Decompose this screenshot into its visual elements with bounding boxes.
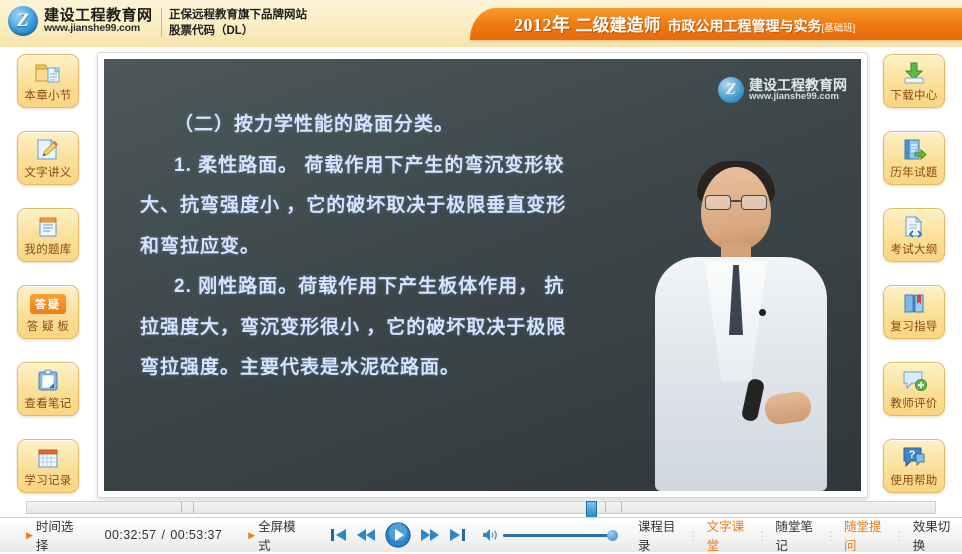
sidebar-item-help[interactable]: ? 使用帮助	[883, 439, 945, 493]
link-effect-switch[interactable]: 效果切换	[906, 516, 962, 554]
prev-track-icon[interactable]	[330, 527, 347, 543]
watermark-site-name: 建设工程教育网	[749, 78, 847, 93]
outline-doc-icon	[900, 213, 928, 240]
sidebar-label: 复习指导	[890, 318, 937, 334]
sidebar-label: 教师评价	[890, 395, 937, 411]
sidebar-label: 我的题库	[24, 241, 71, 257]
triangle-right-icon: ▶	[26, 530, 33, 541]
video-stage: Z 建设工程教育网 www.jianshe99.com	[97, 52, 868, 498]
banner-exam: 二级建造师	[576, 16, 661, 35]
lecture-slide: （二）按力学性能的路面分类。 1. 柔性路面。 荷载作用下产生的弯沉变形较 大、…	[140, 111, 760, 395]
slide-line: 弯拉强度。主要代表是水泥砼路面。	[140, 354, 760, 383]
rewind-icon[interactable]	[356, 527, 376, 543]
header-subtitle: 正保远程教育旗下品牌网站 股票代码（DL）	[169, 8, 307, 39]
video-player[interactable]: Z 建设工程教育网 www.jianshe99.com	[104, 59, 861, 491]
sidebar-label: 查看笔记	[24, 395, 71, 411]
time-separator: /	[161, 528, 165, 542]
progress-tick	[181, 502, 182, 513]
sidebar-label: 本章小节	[24, 87, 71, 103]
total-time: 00:53:37	[170, 528, 222, 542]
page-header: Z 建设工程教育网 www.jianshe99.com 正保远程教育旗下品牌网站…	[0, 0, 962, 47]
progress-thumb[interactable]	[586, 501, 597, 518]
sidebar-item-review-guide[interactable]: 复习指导	[883, 285, 945, 339]
folder-doc-icon	[34, 59, 62, 86]
link-separator: ⋮	[756, 528, 769, 543]
slide-line: 1. 柔性路面。 荷载作用下产生的弯沉变形较	[140, 152, 760, 181]
logo-mark-letter: Z	[17, 10, 29, 32]
sidebar-item-teacher-rating[interactable]: 教师评价	[883, 362, 945, 416]
link-separator: ⋮	[687, 528, 700, 543]
sidebar-label: 使用帮助	[890, 472, 937, 488]
sidebar-item-view-notes[interactable]: 查看笔记	[17, 362, 79, 416]
sidebar-item-chapter-outline[interactable]: 本章小节	[17, 54, 79, 108]
player-control-bar: ▶ 时间选择 00:32:57 / 00:53:37 ▶ 全屏模式	[0, 517, 962, 552]
banner-year: 2012年	[514, 15, 571, 35]
link-separator: ⋮	[825, 528, 838, 543]
open-book-icon	[900, 290, 928, 317]
link-ask-question[interactable]: 随堂提问	[837, 516, 893, 554]
sidebar-right: 下载中心 历年试题 考试大纲	[866, 48, 962, 513]
volume-track[interactable]	[503, 534, 613, 537]
comment-plus-icon	[900, 367, 928, 394]
svg-text:?: ?	[909, 449, 916, 461]
slide-line: 拉强度大，弯沉变形很小 ，它的破坏取决于极限	[140, 314, 760, 343]
playback-controls	[330, 522, 499, 548]
watermark-site-url: www.jianshe99.com	[749, 92, 847, 102]
link-text-classroom[interactable]: 文字课堂	[700, 516, 756, 554]
video-progress-bar[interactable]	[26, 501, 936, 514]
header-subtitle-line2: 股票代码（DL）	[169, 24, 307, 40]
link-course-catalog[interactable]: 课程目录	[631, 516, 687, 554]
sidebar-item-exam-syllabus[interactable]: 考试大纲	[883, 208, 945, 262]
current-time: 00:32:57	[105, 528, 157, 542]
sidebar-label: 考试大纲	[890, 241, 937, 257]
watermark-logo-icon: Z	[718, 77, 744, 103]
watermark-logo-letter: Z	[726, 81, 736, 99]
instructor-microphone	[759, 309, 766, 316]
play-icon[interactable]	[385, 522, 411, 548]
clipboard-icon	[34, 367, 62, 394]
notepad-icon	[34, 213, 62, 240]
slide-line: 大、抗弯强度小 ，它的破坏取决于极限垂直变形	[140, 192, 760, 221]
site-logo[interactable]: Z 建设工程教育网 www.jianshe99.com	[8, 6, 153, 36]
slide-line: （二）按力学性能的路面分类。	[140, 111, 760, 140]
header-subtitle-line1: 正保远程教育旗下品牌网站	[169, 8, 307, 24]
slide-line: 和弯拉应变。	[140, 233, 760, 262]
logo-site-url: www.jianshe99.com	[44, 23, 153, 34]
sidebar-item-text-lecture[interactable]: 文字讲义	[17, 131, 79, 185]
progress-tick	[621, 502, 622, 513]
banner-course: 市政公用工程管理与实务	[668, 18, 822, 34]
course-player-window: Z 建设工程教育网 www.jianshe99.com 正保远程教育旗下品牌网站…	[0, 0, 962, 551]
next-track-icon[interactable]	[449, 527, 466, 543]
sidebar-item-download-center[interactable]: 下载中心	[883, 54, 945, 108]
time-select-label: 时间选择	[36, 516, 80, 554]
time-readout: 00:32:57 / 00:53:37	[105, 528, 223, 542]
sidebar-left: 本章小节 文字讲义 我的题库	[0, 48, 96, 513]
link-class-notes[interactable]: 随堂笔记	[768, 516, 824, 554]
header-divider	[161, 8, 162, 37]
course-title-banner: 2012年二级建造师市政公用工程管理与实务[基础班]	[470, 8, 962, 40]
download-icon	[900, 59, 928, 86]
progress-tick	[605, 502, 606, 513]
sidebar-item-my-question-bank[interactable]: 我的题库	[17, 208, 79, 262]
time-select-button[interactable]: ▶ 时间选择	[26, 516, 80, 554]
fullscreen-label: 全屏模式	[258, 516, 302, 554]
fullscreen-button[interactable]: ▶ 全屏模式	[248, 516, 302, 554]
sidebar-label: 历年试题	[890, 164, 937, 180]
logo-site-name: 建设工程教育网	[44, 8, 153, 24]
slide-line: 2. 刚性路面。荷载作用下产生板体作用， 抗	[140, 273, 760, 302]
triangle-right-icon: ▶	[248, 530, 255, 541]
volume-knob[interactable]	[607, 530, 618, 541]
volume-slider[interactable]	[503, 534, 613, 537]
fast-forward-icon[interactable]	[420, 527, 440, 543]
link-separator: ⋮	[893, 528, 906, 543]
answer-badge-text: 答疑	[30, 294, 66, 314]
logo-mark-icon: Z	[8, 6, 38, 36]
progress-tick	[193, 502, 194, 513]
sidebar-item-study-record[interactable]: 学习记录	[17, 439, 79, 493]
volume-icon[interactable]	[481, 527, 499, 543]
sidebar-label: 学习记录	[24, 472, 71, 488]
question-help-icon: ?	[900, 444, 928, 471]
pencil-paper-icon	[34, 136, 62, 163]
sidebar-item-qa-board[interactable]: 答疑 答 疑 板	[17, 285, 79, 339]
calendar-icon	[34, 444, 62, 471]
bottom-links: 课程目录 ⋮ 文字课堂 ⋮ 随堂笔记 ⋮ 随堂提问 ⋮ 效果切换	[631, 516, 962, 554]
video-watermark: Z 建设工程教育网 www.jianshe99.com	[718, 77, 847, 103]
answer-badge-icon: 答疑	[30, 290, 66, 317]
sidebar-label: 文字讲义	[24, 164, 71, 180]
sidebar-item-past-exams[interactable]: 历年试题	[883, 131, 945, 185]
book-arrow-icon	[900, 136, 928, 163]
sidebar-label: 下载中心	[890, 87, 937, 103]
sidebar-label: 答 疑 板	[27, 318, 69, 334]
banner-class-tag: [基础班]	[822, 23, 856, 34]
